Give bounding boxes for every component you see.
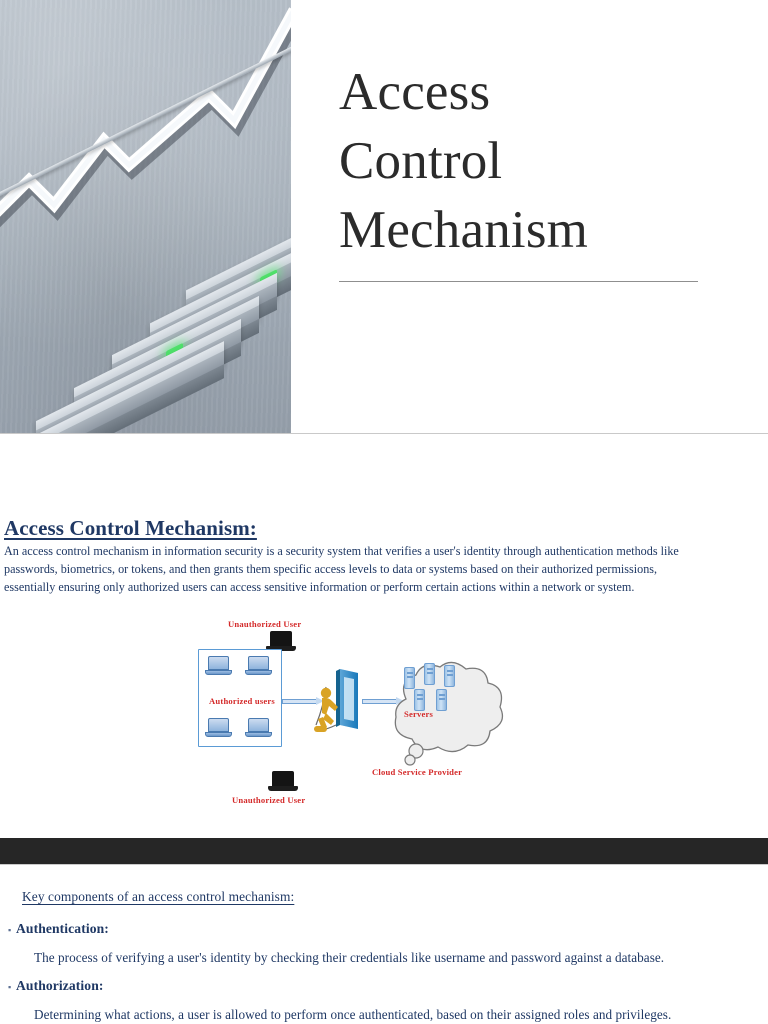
laptop-icon	[205, 656, 232, 676]
key-components-slide: Key components of an access control mech…	[0, 865, 768, 1024]
laptop-icon	[245, 656, 272, 676]
page-title: Access Control Mechanism	[339, 58, 709, 265]
bullet-description: The process of verifying a user's identi…	[34, 950, 664, 966]
person-pushing-door-icon	[314, 667, 366, 739]
server-rack-icon	[414, 689, 425, 711]
diagram-label-authorized-users: Authorized users	[204, 695, 280, 707]
server-rack-icon	[404, 667, 415, 689]
title-slide: Access Control Mechanism	[0, 0, 768, 434]
list-item: ▪Authentication:	[8, 921, 109, 937]
title-line-2: Control	[339, 127, 709, 196]
title-line-1: Access	[339, 58, 709, 127]
diagram-label-unauthorized-top: Unauthorized User	[228, 619, 301, 629]
bullet-dot-icon: ▪	[8, 925, 16, 935]
bullet-description: Determining what actions, a user is allo…	[34, 1007, 671, 1023]
title-underline-rule	[339, 281, 698, 282]
components-heading: Key components of an access control mech…	[22, 889, 294, 905]
bullet-label: Authentication:	[16, 921, 109, 936]
list-item: ▪Authorization:	[8, 978, 104, 994]
laptop-icon	[205, 718, 232, 738]
server-rack-icon	[424, 663, 435, 685]
hero-stairway-image	[0, 0, 291, 434]
laptop-icon	[245, 718, 272, 738]
server-rack-icon	[444, 665, 455, 687]
slide-divider-band	[0, 838, 768, 865]
body-paragraph: An access control mechanism in informati…	[4, 543, 707, 596]
title-line-3: Mechanism	[339, 196, 709, 265]
bullet-label: Authorization:	[16, 978, 104, 993]
diagram-label-cloud-service-provider: Cloud Service Provider	[372, 767, 462, 777]
server-rack-icon	[436, 689, 447, 711]
access-control-diagram: Unauthorized User Authorized users	[186, 619, 516, 809]
diagram-label-unauthorized-bottom: Unauthorized User	[232, 795, 305, 805]
diagram-label-servers: Servers	[404, 709, 433, 719]
bullet-dot-icon: ▪	[8, 982, 16, 992]
unauthorized-laptop-icon	[268, 771, 298, 793]
section-heading: Access Control Mechanism:	[4, 516, 257, 541]
content-slide: Access Control Mechanism: An access cont…	[0, 435, 768, 838]
